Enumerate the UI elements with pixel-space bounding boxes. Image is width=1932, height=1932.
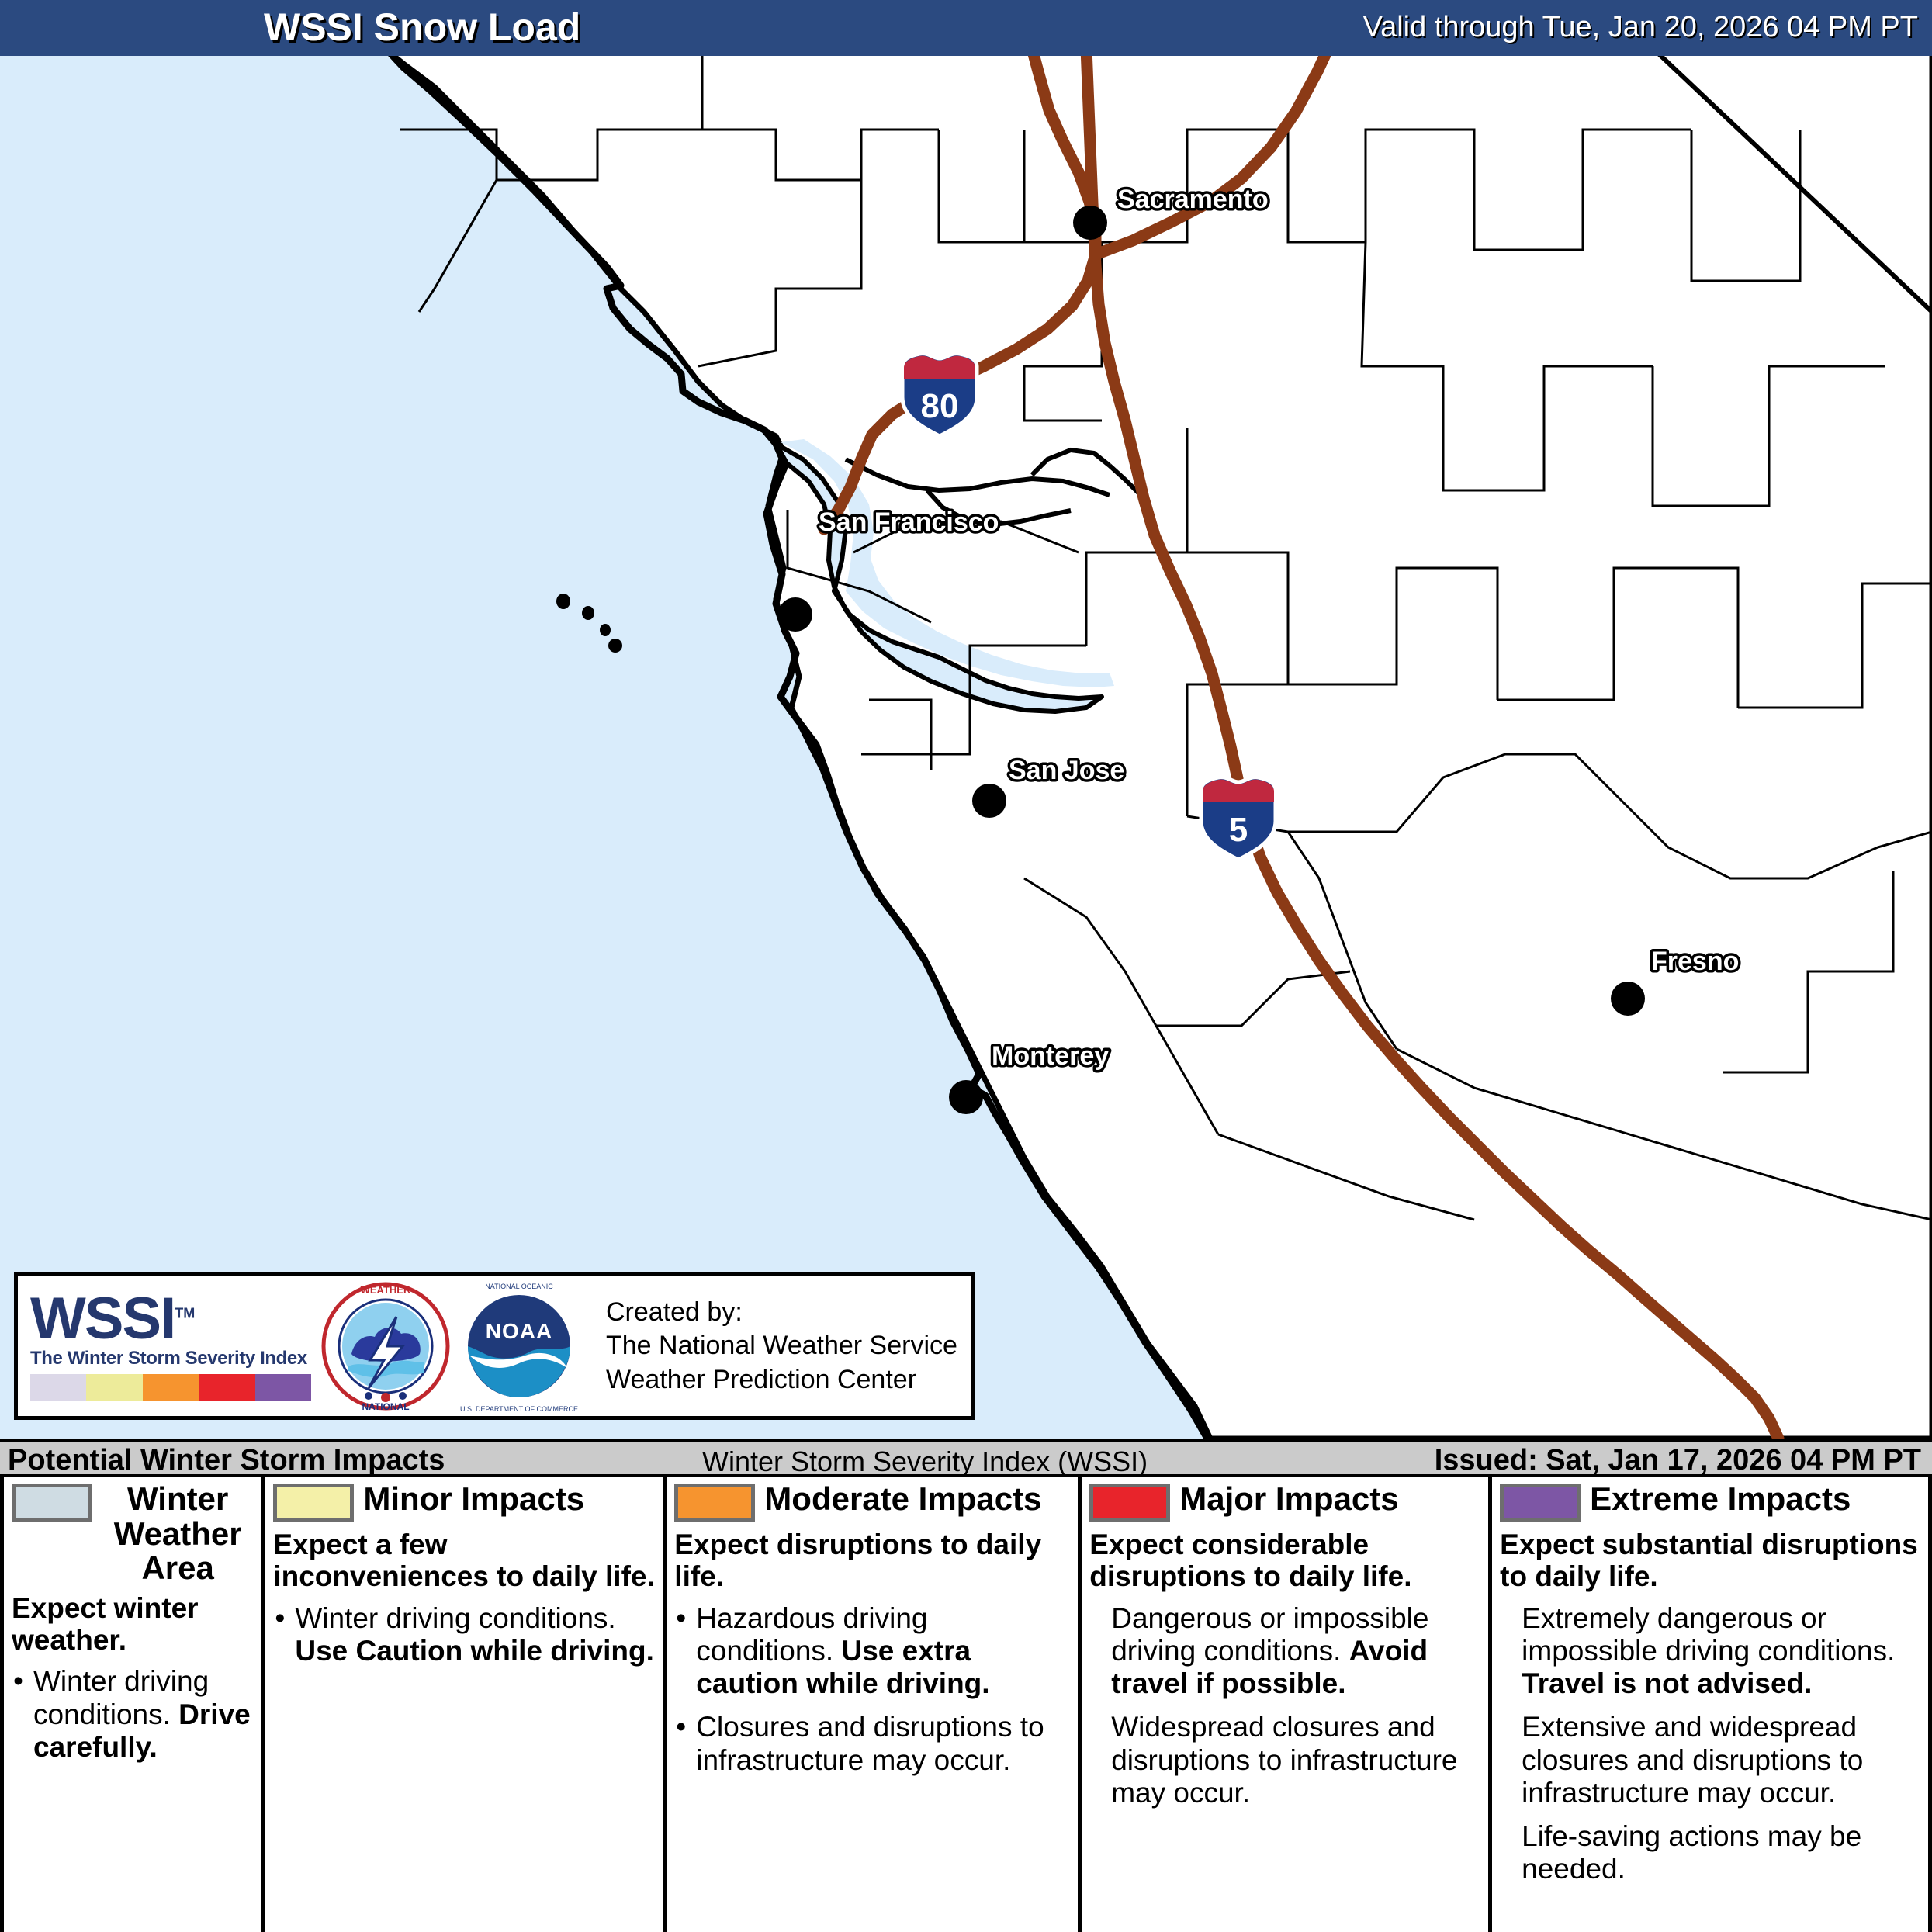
svg-text:U.S. DEPARTMENT OF COMMERCE: U.S. DEPARTMENT OF COMMERCE <box>460 1405 578 1413</box>
legend-bullet-list: Dangerous or impossible driving conditio… <box>1089 1602 1480 1809</box>
offshore-islands <box>556 594 622 653</box>
legend-lead-minor-impacts: Expect a few inconveniences to daily lif… <box>273 1529 655 1593</box>
legend-column-moderate-impacts: Moderate ImpactsExpect disruptions to da… <box>667 1477 1082 1932</box>
legend-swatch-moderate-impacts <box>674 1484 755 1522</box>
map-svg: 80 5 Sacramento San Francisco <box>0 56 1932 1439</box>
city-label-sacramento: Sacramento <box>1117 185 1269 214</box>
created-by-block: Created by: The National Weather Service… <box>606 1296 957 1397</box>
city-label-san-francisco: San Francisco <box>819 507 999 537</box>
legend-lead-moderate-impacts: Expect disruptions to daily life. <box>674 1529 1070 1593</box>
legend-column-winter-weather-area: Winter Weather AreaExpect winter weather… <box>4 1477 265 1932</box>
page-header: WSSI Snow Load Valid through Tue, Jan 20… <box>0 0 1932 56</box>
svg-text:WEATHER: WEATHER <box>361 1284 411 1296</box>
color-bar-swatch-moderate <box>143 1374 199 1401</box>
shield-route-number: 80 <box>921 387 959 425</box>
legend-bullet-item: Hazardous driving conditions. Use extra … <box>674 1602 1070 1701</box>
color-bar-swatch-winter-weather <box>30 1374 86 1401</box>
legend-swatch-major-impacts <box>1089 1484 1170 1522</box>
map-canvas[interactable]: 80 5 Sacramento San Francisco <box>0 56 1932 1439</box>
wssi-snow-load-map-page: WSSI Snow Load Valid through Tue, Jan 20… <box>0 0 1932 1932</box>
legend-bullet-item: Dangerous or impossible driving conditio… <box>1089 1602 1480 1701</box>
status-issued-label: Issued: Sat, Jan 17, 2026 04 PM PT <box>1435 1444 1921 1477</box>
legend-title-moderate-impacts: Moderate Impacts <box>764 1482 1070 1517</box>
legend-bullet-item: Winter driving conditions. Use Caution w… <box>273 1602 655 1667</box>
wssi-logo-box: WSSITM The Winter Storm Severity Index W… <box>14 1272 975 1420</box>
legend-bullet-item: Extremely dangerous or impossible drivin… <box>1500 1602 1920 1701</box>
nws-seal-icon: WEATHER NATIONAL <box>320 1279 451 1413</box>
legend-lead-major-impacts: Expect considerable disruptions to daily… <box>1089 1529 1480 1593</box>
legend-column-header: Extreme Impacts <box>1500 1482 1920 1522</box>
wssi-brand-mark: WSSITM The Winter Storm Severity Index <box>18 1292 320 1401</box>
legend-swatch-minor-impacts <box>273 1484 354 1522</box>
color-bar-swatch-major <box>199 1374 254 1401</box>
legend-column-header: Major Impacts <box>1089 1482 1480 1522</box>
wssi-wordmark-text: WSSI <box>30 1286 175 1352</box>
noaa-seal-icon: NOAA NATIONAL OCEANIC U.S. DEPARTMENT OF… <box>451 1278 587 1414</box>
created-by-line-2: The National Weather Service <box>606 1329 957 1363</box>
legend-title-minor-impacts: Minor Impacts <box>363 1482 655 1517</box>
legend-column-extreme-impacts: Extreme ImpactsExpect substantial disrup… <box>1492 1477 1928 1932</box>
legend-column-major-impacts: Major ImpactsExpect considerable disrupt… <box>1082 1477 1492 1932</box>
legend-bullet-list: Winter driving conditions. Use Caution w… <box>273 1602 655 1667</box>
legend-bullet-item: Extensive and widespread closures and di… <box>1500 1711 1920 1809</box>
legend-bullet-list: Winter driving conditions. Drive careful… <box>12 1665 254 1764</box>
legend-lead-extreme-impacts: Expect substantial disruptions to daily … <box>1500 1529 1920 1593</box>
legend-bullet-list: Extremely dangerous or impossible drivin… <box>1500 1602 1920 1885</box>
legend-bullet-item: Closures and disruptions to infrastructu… <box>674 1711 1070 1776</box>
created-by-line-3: Weather Prediction Center <box>606 1363 957 1397</box>
shield-route-number: 5 <box>1229 811 1248 849</box>
created-by-line-1: Created by: <box>606 1296 957 1330</box>
status-potential-impacts-label: Potential Winter Storm Impacts <box>8 1444 445 1477</box>
legend-title-winter-weather-area: Winter Weather Area <box>102 1482 254 1586</box>
color-bar-swatch-extreme <box>255 1374 311 1401</box>
impact-legend: Winter Weather AreaExpect winter weather… <box>0 1477 1932 1932</box>
status-index-name-label: Winter Storm Severity Index (WSSI) <box>702 1446 1148 1478</box>
wssi-severity-color-bar <box>30 1374 311 1401</box>
city-label-monterey: Monterey <box>992 1041 1109 1071</box>
city-label-san-jose: San Jose <box>1009 756 1124 785</box>
legend-column-header: Minor Impacts <box>273 1482 655 1522</box>
legend-swatch-winter-weather-area <box>12 1484 92 1522</box>
legend-bullet-list: Hazardous driving conditions. Use extra … <box>674 1602 1070 1777</box>
legend-title-extreme-impacts: Extreme Impacts <box>1590 1482 1920 1517</box>
land-polygon <box>384 56 1932 1439</box>
city-label-fresno: Fresno <box>1651 947 1739 976</box>
wssi-wordmark: WSSITM <box>30 1292 195 1346</box>
svg-text:NOAA: NOAA <box>486 1319 552 1343</box>
valid-through-label: Valid through Tue, Jan 20, 2026 04 PM PT <box>1363 11 1918 44</box>
color-bar-swatch-minor <box>86 1374 142 1401</box>
legend-column-header: Winter Weather Area <box>12 1482 254 1586</box>
page-title: WSSI Snow Load <box>264 5 580 50</box>
legend-lead-winter-weather-area: Expect winter weather. <box>12 1592 254 1657</box>
svg-text:NATIONAL: NATIONAL <box>362 1401 409 1412</box>
legend-column-header: Moderate Impacts <box>674 1482 1070 1522</box>
legend-swatch-extreme-impacts <box>1500 1484 1581 1522</box>
status-bar: Potential Winter Storm Impacts Winter St… <box>0 1439 1932 1477</box>
legend-column-minor-impacts: Minor ImpactsExpect a few inconveniences… <box>265 1477 667 1932</box>
legend-title-major-impacts: Major Impacts <box>1179 1482 1480 1517</box>
legend-bullet-item: Life-saving actions may be needed. <box>1500 1820 1920 1885</box>
legend-bullet-item: Widespread closures and disruptions to i… <box>1089 1711 1480 1809</box>
trademark-symbol: TM <box>175 1306 195 1321</box>
svg-text:NATIONAL OCEANIC: NATIONAL OCEANIC <box>485 1283 553 1290</box>
legend-bullet-item: Winter driving conditions. Drive careful… <box>12 1665 254 1764</box>
